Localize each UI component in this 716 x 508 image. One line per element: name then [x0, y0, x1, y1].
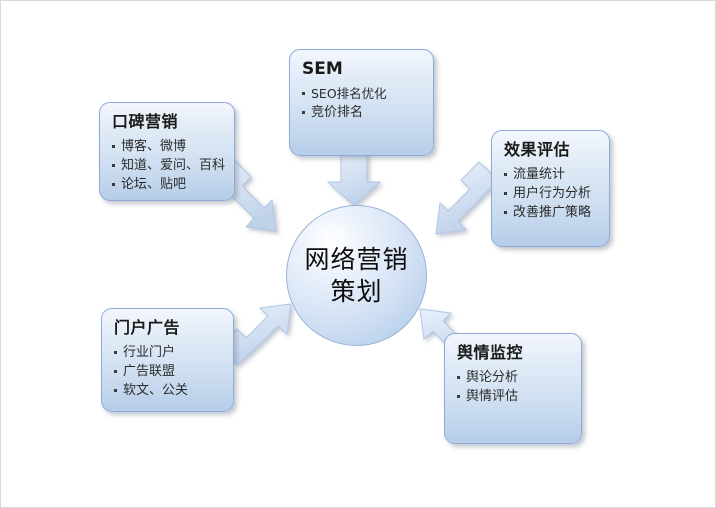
bullet-item: 知道、爱问、百科	[112, 156, 224, 175]
bullet-item: 博客、微博	[112, 137, 224, 156]
bullet-item: 软文、公关	[114, 381, 223, 400]
bullet-item: 论坛、贴吧	[112, 175, 224, 194]
bullet-item: 流量统计	[504, 165, 599, 184]
node-title-portal-advertising: 门户广告	[114, 318, 223, 338]
node-title-word-of-mouth-marketing: 口碑营销	[112, 112, 224, 132]
node-title-effect-evaluation: 效果评估	[504, 140, 599, 160]
arrow-effect-evaluation-to-center	[436, 162, 498, 234]
center-node-circle[interactable]: 网络营销 策划	[286, 205, 427, 346]
node-box-public-opinion-monitoring[interactable]: 舆情监控 舆论分析 舆情评估	[444, 333, 582, 444]
node-bullets-public-opinion-monitoring: 舆论分析 舆情评估	[457, 368, 571, 406]
bullet-item: 舆论分析	[457, 368, 571, 387]
node-bullets-sem: SEO排名优化 竞价排名	[302, 84, 423, 122]
node-bullets-portal-advertising: 行业门户 广告联盟 软文、公关	[114, 343, 223, 400]
node-box-sem[interactable]: SEM SEO排名优化 竞价排名	[289, 49, 434, 156]
node-box-portal-advertising[interactable]: 门户广告 行业门户 广告联盟 软文、公关	[101, 308, 234, 412]
center-node-label: 网络营销 策划	[304, 244, 408, 308]
node-box-effect-evaluation[interactable]: 效果评估 流量统计 用户行为分析 改善推广策略	[491, 130, 610, 247]
node-title-public-opinion-monitoring: 舆情监控	[457, 343, 571, 363]
bullet-item: 改善推广策略	[504, 203, 599, 222]
node-bullets-effect-evaluation: 流量统计 用户行为分析 改善推广策略	[504, 165, 599, 222]
bullet-item: 用户行为分析	[504, 184, 599, 203]
arrow-sem-to-center	[328, 153, 380, 206]
node-title-sem: SEM	[302, 59, 423, 79]
bullet-item: 广告联盟	[114, 362, 223, 381]
bullet-item: 行业门户	[114, 343, 223, 362]
bullet-item: 舆情评估	[457, 387, 571, 406]
bullet-item: SEO排名优化	[302, 84, 423, 103]
node-box-word-of-mouth-marketing[interactable]: 口碑营销 博客、微博 知道、爱问、百科 论坛、贴吧	[99, 102, 235, 201]
node-bullets-word-of-mouth-marketing: 博客、微博 知道、爱问、百科 论坛、贴吧	[112, 137, 224, 194]
diagram-canvas: SEM SEO排名优化 竞价排名 口碑营销 博客、微博 知道、爱问、百科 论坛、…	[0, 0, 716, 508]
bullet-item: 竞价排名	[302, 103, 423, 122]
